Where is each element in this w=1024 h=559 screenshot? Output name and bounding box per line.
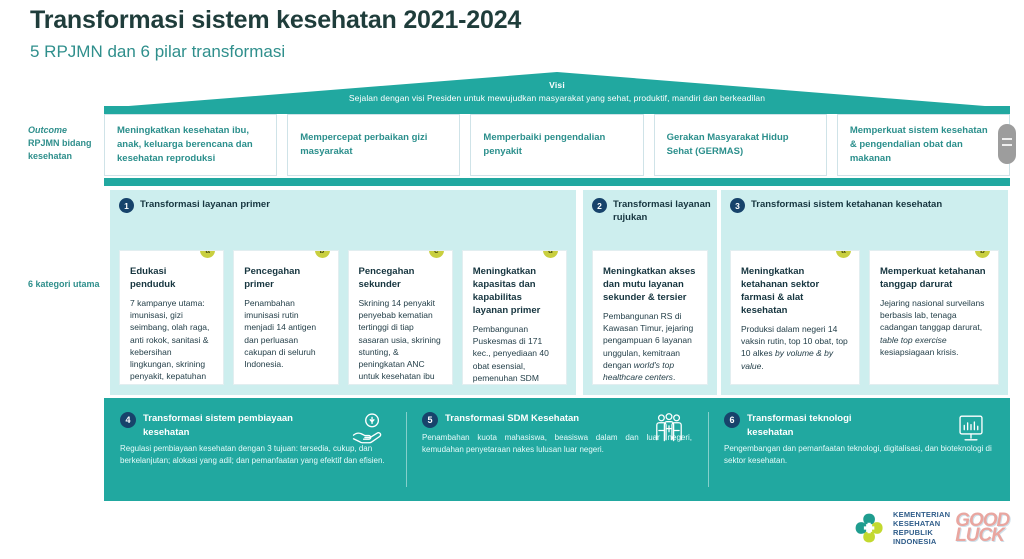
pillar-2-header: 2 Transformasi layanan rujukan (592, 198, 711, 224)
footer-branding: KEMENTERIAN KESEHATAN REPUBLIK INDONESIA… (852, 502, 1024, 554)
card-1c-body: Skrining 14 penyakit penyebab kematian t… (359, 297, 442, 385)
pillar-4-block[interactable]: 4 Transformasi sistem pembiayaan kesehat… (104, 398, 406, 501)
card-1c[interactable]: c Pencegahan sekunder Skrining 14 penyak… (348, 250, 453, 385)
card-2a-body: Pembangunan RS di Kawasan Timur, jejarin… (603, 310, 697, 383)
pillars-top-band: 1 Transformasi layanan primer a Edukasi … (104, 190, 1010, 395)
card-3b-body-post: kesiapsiagaan krisis. (880, 347, 958, 357)
handle-line-top (1002, 138, 1012, 140)
ministry-line-3: REPUBLIK (893, 528, 950, 537)
vision-text: Sejalan dengan visi Presiden untuk mewuj… (104, 93, 1010, 103)
pillar-2-number: 2 (592, 198, 607, 213)
outcome-card-5[interactable]: Memperkuat sistem kesehatan & pengendali… (837, 114, 1010, 176)
card-badge-b: b (315, 250, 330, 258)
card-1c-heading: Pencegahan sekunder (359, 265, 442, 291)
ministry-line-1: KEMENTERIAN (893, 510, 950, 519)
pillar-3-cards: a Meningkatkan ketahanan sektor farmasi … (730, 250, 999, 385)
people-group-icon (652, 412, 686, 444)
card-1d-heading: Meningkatkan kapasitas dan kapabilitas l… (473, 265, 556, 317)
card-3b-body-em: table top exercise (880, 335, 947, 345)
vision-roof: Visi Sejalan dengan visi Presiden untuk … (104, 72, 1010, 114)
outcome-band: Meningkatkan kesehatan ibu, anak, keluar… (104, 114, 1010, 186)
card-badge-3b: b (975, 250, 990, 258)
card-3b[interactable]: b Memperkuat ketahanan tanggap darurat J… (869, 250, 999, 385)
ministry-line-2: KESEHATAN (893, 519, 950, 528)
card-3b-heading: Memperkuat ketahanan tanggap darurat (880, 265, 988, 291)
kemenkes-logo-icon (852, 510, 888, 546)
card-badge-c: c (429, 250, 444, 258)
pillar-5-title: Transformasi SDM Kesehatan (445, 412, 579, 426)
pillar-3-column[interactable]: 3 Transformasi sistem ketahanan kesehata… (721, 190, 1008, 395)
card-1b[interactable]: b Pencegahan primer Penambahan imunisasi… (233, 250, 338, 385)
card-2a-heading: Meningkatkan akses dan mutu layanan seku… (603, 265, 697, 304)
pillar-2-title: Transformasi layanan rujukan (613, 198, 711, 224)
card-3a[interactable]: a Meningkatkan ketahanan sektor farmasi … (730, 250, 860, 385)
card-2a-body-post: . (673, 372, 675, 382)
ministry-name: KEMENTERIAN KESEHATAN REPUBLIK INDONESIA (893, 510, 950, 546)
drag-handle[interactable] (998, 124, 1016, 164)
card-3a-body: Produksi dalam negeri 14 vaksin rutin, t… (741, 323, 849, 372)
outcome-card-2[interactable]: Mempercepat perbaikan gizi masyarakat (287, 114, 460, 176)
ministry-line-4: INDONESIA (893, 537, 950, 546)
card-3b-body-pre: Jejaring nasional surveilans berbasis la… (880, 298, 984, 332)
pillar-6-title: Transformasi teknologi kesehatan (747, 412, 897, 439)
card-1a-body: 7 kampanye utama: imunisasi, gizi seimba… (130, 297, 213, 385)
card-3a-heading: Meningkatkan ketahanan sektor farmasi & … (741, 265, 849, 317)
pillar-1-column[interactable]: 1 Transformasi layanan primer a Edukasi … (110, 190, 576, 395)
pillar-1-number: 1 (119, 198, 134, 213)
card-1a[interactable]: a Edukasi penduduk 7 kampanye utama: imu… (119, 250, 224, 385)
pillar-3-header: 3 Transformasi sistem ketahanan kesehata… (730, 198, 1002, 213)
pillar-4-number: 4 (120, 412, 136, 428)
card-1b-heading: Pencegahan primer (244, 265, 327, 291)
card-1d[interactable]: d Meningkatkan kapasitas dan kapabilitas… (462, 250, 567, 385)
card-badge-d: d (543, 250, 558, 258)
monitor-chart-icon (954, 412, 988, 444)
vision-title: Visi (104, 80, 1010, 90)
card-3b-body: Jejaring nasional surveilans berbasis la… (880, 297, 988, 358)
outcome-card-row: Meningkatkan kesehatan ibu, anak, keluar… (104, 114, 1010, 176)
outcome-card-4[interactable]: Gerakan Masyarakat Hidup Sehat (GERMAS) (654, 114, 827, 176)
pillar-4-desc: Regulasi pembiayaan kesehatan dengan 3 t… (120, 443, 390, 466)
outcome-label-italic: Outcome (28, 124, 108, 137)
page-subtitle: 5 RPJMN dan 6 pilar transformasi (30, 42, 285, 62)
pillar-3-number: 3 (730, 198, 745, 213)
outcome-card-1[interactable]: Meningkatkan kesehatan ibu, anak, keluar… (104, 114, 277, 176)
outcome-card-3[interactable]: Memperbaiki pengendalian penyakit (470, 114, 643, 176)
pillar-1-header: 1 Transformasi layanan primer (119, 198, 570, 213)
hand-coin-icon (350, 412, 384, 444)
card-1d-body: Pembangunan Puskesmas di 171 kec., penye… (473, 323, 556, 385)
pillar-5-block[interactable]: 5 Transformasi SDM Kesehatan Penambahan … (406, 398, 708, 501)
pillar-3-title: Transformasi sistem ketahanan kesehatan (751, 198, 942, 211)
pillar-2-cards: Meningkatkan akses dan mutu layanan seku… (592, 250, 708, 385)
pillar-1-cards: a Edukasi penduduk 7 kampanye utama: imu… (119, 250, 567, 385)
pillar-6-block[interactable]: 6 Transformasi teknologi kesehatan Penge… (708, 398, 1010, 501)
pillar-4-title: Transformasi sistem pembiayaan kesehatan (143, 412, 293, 439)
pillar-1-title: Transformasi layanan primer (140, 198, 270, 211)
handle-line-bottom (1002, 144, 1012, 146)
pillar-5-number: 5 (422, 412, 438, 428)
outcome-label-rest: RPJMN bidang kesehatan (28, 138, 92, 161)
pillar-6-number: 6 (724, 412, 740, 428)
categories-row-label: 6 kategori utama (28, 278, 108, 291)
card-2a[interactable]: Meningkatkan akses dan mutu layanan seku… (592, 250, 708, 385)
pillars-bottom-band: 4 Transformasi sistem pembiayaan kesehat… (104, 398, 1010, 501)
pillar-2-column[interactable]: 2 Transformasi layanan rujukan Meningkat… (583, 190, 717, 395)
card-3a-body-post: . (761, 361, 763, 371)
outcome-row-label: Outcome RPJMN bidang kesehatan (28, 124, 108, 163)
pillar-6-desc: Pengembangan dan pemanfaatan teknologi, … (724, 443, 994, 466)
roof-base-bar (104, 106, 1010, 114)
card-badge-a: a (200, 250, 215, 258)
page-title: Transformasi sistem kesehatan 2021-2024 (30, 6, 521, 35)
good-luck-watermark: GOOD LUCK (955, 513, 1009, 543)
outcome-divider-bar (104, 178, 1010, 186)
card-badge-3a: a (836, 250, 851, 258)
card-1a-heading: Edukasi penduduk (130, 265, 213, 291)
card-1b-body: Penambahan imunisasi rutin menjadi 14 an… (244, 297, 327, 370)
good-luck-line-2: LUCK (955, 528, 1009, 543)
